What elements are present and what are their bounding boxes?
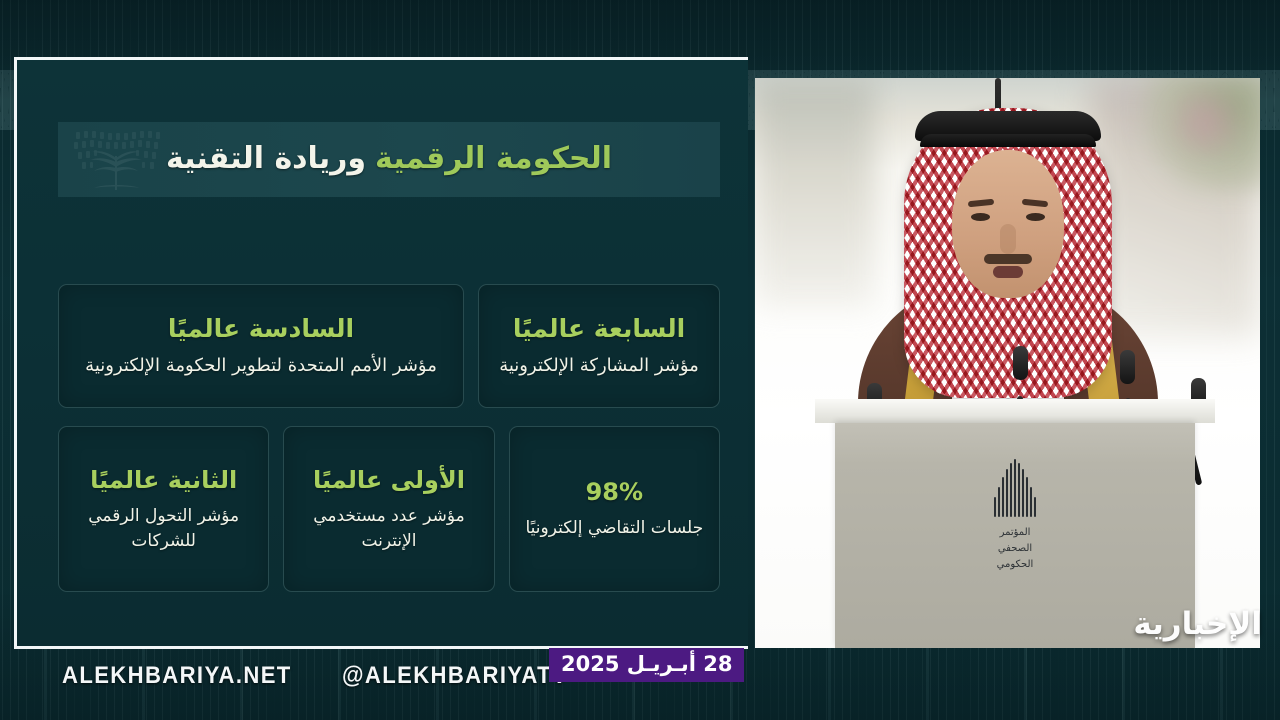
stat-value: الأولى عالميًا bbox=[313, 465, 465, 495]
panel-title-highlight: الحكومة الرقمية bbox=[375, 141, 612, 176]
stat-value: 98% bbox=[586, 477, 643, 507]
stat-value: السابعة عالميًا bbox=[513, 313, 685, 344]
stat-value: الثانية عالميًا bbox=[90, 465, 237, 495]
stat-label: مؤشر المشاركة الإلكترونية bbox=[499, 353, 699, 379]
panel-header-band: الحكومة الرقمية وريادة التقنية bbox=[58, 122, 720, 197]
panel-title: الحكومة الرقمية وريادة التقنية bbox=[58, 122, 720, 197]
podium-logo-line-2: الصحفي bbox=[955, 541, 1075, 556]
podium-logo-line-1: المؤتمر bbox=[955, 525, 1075, 540]
broadcast-date-badge: 28 أبـريـل 2025 bbox=[549, 648, 744, 682]
speaker-eye-right bbox=[1026, 213, 1045, 221]
speaker-eye-left bbox=[971, 213, 990, 221]
video-pink-blur bbox=[1160, 88, 1250, 158]
podium-top-edge bbox=[815, 399, 1215, 423]
stat-label: مؤشر الأمم المتحدة لتطوير الحكومة الإلكت… bbox=[85, 353, 437, 379]
stats-row-bottom: الثانية عالميًا مؤشر التحول الرقمي للشرك… bbox=[58, 426, 720, 592]
stats-panel: الحكومة الرقمية وريادة التقنية السادسة ع… bbox=[14, 57, 748, 649]
speaker-brow-left bbox=[967, 199, 993, 208]
stat-card: الأولى عالميًا مؤشر عدد مستخدمي الإنترنت bbox=[283, 426, 494, 592]
podium-logo-line-3: الحكومي bbox=[955, 557, 1075, 572]
stats-row-top: السادسة عالميًا مؤشر الأمم المتحدة لتطوي… bbox=[58, 284, 720, 408]
press-conference-emblem-icon bbox=[955, 459, 1075, 517]
speaker-brow-right bbox=[1021, 199, 1047, 208]
channel-logo: الإخبارية bbox=[1133, 606, 1262, 642]
microphone-head-center bbox=[1013, 346, 1028, 380]
speaker-moustache bbox=[984, 254, 1032, 264]
ticker-website: ALEKHBARIYA.NET bbox=[62, 662, 292, 690]
stat-card: الثانية عالميًا مؤشر التحول الرقمي للشرك… bbox=[58, 426, 269, 592]
stat-value: السادسة عالميًا bbox=[168, 313, 354, 344]
stat-card: السادسة عالميًا مؤشر الأمم المتحدة لتطوي… bbox=[58, 284, 464, 408]
stat-label: مؤشر التحول الرقمي للشركات bbox=[71, 504, 256, 553]
microphone-head-right bbox=[1120, 350, 1135, 384]
stat-label: مؤشر عدد مستخدمي الإنترنت bbox=[296, 504, 481, 553]
speaker-igal-lower bbox=[920, 134, 1096, 147]
stat-card: السابعة عالميًا مؤشر المشاركة الإلكتروني… bbox=[478, 284, 720, 408]
podium-logo: المؤتمر الصحفي الحكومي bbox=[955, 459, 1075, 572]
stat-card: 98% جلسات التقاضي إلكترونيًا bbox=[509, 426, 720, 592]
panel-title-rest: وريادة التقنية bbox=[166, 141, 366, 176]
ticker-text-group: ALEKHBARIYA.NET @ALEKHBARIYATV bbox=[62, 662, 587, 690]
speaker-face bbox=[952, 150, 1064, 298]
video-blur-left bbox=[755, 78, 875, 308]
ticker-social-handle: @ALEKHBARIYATV bbox=[342, 662, 568, 690]
live-video-feed: المؤتمر الصحفي الحكومي bbox=[755, 78, 1260, 648]
stat-label: جلسات التقاضي إلكترونيًا bbox=[525, 516, 703, 541]
speaker-mouth bbox=[993, 266, 1023, 278]
speaker-nose bbox=[1000, 224, 1016, 254]
